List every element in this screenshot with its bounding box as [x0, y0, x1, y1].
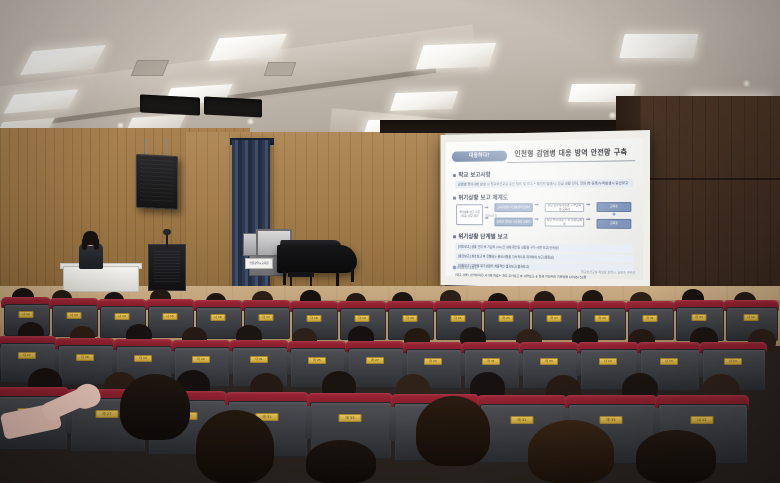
wall-mounted-speaker — [136, 154, 178, 210]
ceiling-av-equipment — [140, 94, 200, 115]
slide-org-name: 인천광역시교육청 — [457, 266, 477, 270]
seat-armrest — [698, 353, 703, 377]
ceiling-panel-light — [619, 34, 698, 58]
audience-head-foreground — [306, 440, 376, 483]
seat-number-tag: 다 21 — [250, 356, 268, 363]
seat-back — [348, 348, 404, 388]
seat[interactable]: 라 27 — [348, 348, 402, 386]
seat-number-tag: 나 15 — [163, 313, 178, 320]
stage-curtain — [232, 140, 270, 300]
audience-head-foreground — [120, 374, 190, 440]
flow-box-r2c2: 담당 부서/과장 → 국·실장/교육감 — [545, 218, 584, 227]
seat-number-tag: 나 13 — [67, 312, 82, 319]
seat-armrest — [170, 351, 175, 374]
audience-head-foreground — [528, 420, 614, 483]
seat-number-tag: 라 27 — [366, 357, 384, 364]
back-wall-wood-right — [640, 96, 780, 314]
seat-number-tag: 라 31 — [482, 358, 500, 365]
seat-armrest — [389, 407, 396, 441]
microphone-stand — [166, 233, 168, 247]
flow-box-r1c2: 담당 장학사/주무관 → 부교육감/교육감 — [545, 203, 584, 212]
flow-arrow-icon: ➡ — [586, 203, 590, 208]
seat-number-tag: 마 33 — [692, 314, 707, 321]
seat-armrest — [286, 352, 291, 375]
seat-number-tag: 다 18 — [76, 354, 94, 361]
audience-head-foreground — [636, 430, 716, 483]
seat-number-tag: 나 12 — [19, 311, 34, 318]
slide-note-1: [최초보고] 상황 인지 후 가급적 24시간 내에 확인된 상황을 구두·서면… — [455, 243, 633, 253]
slide-bullet-3: 위기상황 단계별 보고 — [453, 232, 508, 241]
audience-head-foreground — [196, 410, 274, 483]
seat-number-tag: 마 33 — [540, 358, 558, 365]
seat-number-tag: 라 27 — [547, 315, 562, 322]
slide-note-2: [중간보고] 최초보고 후 진행되는 중요사항을 지속적으로 파악하여 보고(정… — [455, 252, 633, 262]
slide-bullet-1: 학교 보고사항 — [453, 170, 491, 179]
flow-box-r2c1: 교육청 당직실 시교육청 상황실 — [494, 218, 532, 227]
seat-number-tag: 다 20 — [403, 315, 418, 322]
seat-number-tag: 라 31 — [511, 416, 534, 424]
slide-footer-credit: 학교보건교실 최보람 장학사, 김은지 주무관 — [581, 269, 635, 275]
piano-leg — [283, 271, 286, 285]
speaker-grille — [140, 159, 174, 205]
seat-number-tag: 다 19 — [134, 355, 152, 362]
floor-speaker-cabinet — [148, 244, 186, 291]
microphone-head — [163, 229, 171, 235]
seat-armrest — [305, 406, 312, 439]
logo-mark-icon — [453, 266, 457, 270]
grand-piano — [277, 245, 357, 273]
piano-bench-leg — [310, 277, 312, 286]
flow-box-r1c3: 교육청 — [597, 202, 632, 212]
projection-screen: 대응하다! 인천형 감염병 대응 방역 안전망 구축 학교 보고사항 감염병 특… — [440, 130, 650, 290]
auditorium-photo: 대응하다! 인천형 감염병 대응 방역 안전망 구축 학교 보고사항 감염병 특… — [0, 0, 780, 483]
seat-number-tag: 마 33 — [339, 414, 362, 422]
seat-armrest — [0, 347, 1, 370]
seat-number-tag: 나 12 — [599, 358, 617, 365]
seat-number-tag: 라 25 — [499, 315, 514, 322]
podium-sign: 인천광역시교육청 — [245, 258, 273, 269]
slide-title-underline — [507, 160, 635, 163]
slide-org-logo: 인천광역시교육청 — [453, 266, 477, 270]
back-wall-wood-center — [185, 132, 445, 300]
ceiling-vent — [131, 60, 169, 76]
ceiling-vent — [264, 62, 297, 76]
ceiling-av-equipment — [204, 96, 262, 117]
seat-number-tag: 나 13 — [660, 358, 678, 365]
flow-plus-icon: ✚ — [612, 213, 616, 218]
slide-title: 인천형 감염병 대응 방역 안전망 구축 — [507, 147, 635, 159]
audience-head-foreground — [416, 396, 490, 466]
seat-number-tag: 라 27 — [96, 410, 119, 418]
slide-section-pill: 대응하다! — [452, 151, 507, 162]
seat-armrest — [402, 353, 407, 376]
flow-arrow-icon: ➡ — [535, 203, 539, 208]
seat-number-tag: 다 20 — [192, 356, 210, 363]
seat-number-tag: 다 17 — [18, 352, 36, 359]
podium — [63, 266, 139, 292]
piano-leg — [351, 268, 354, 282]
seat-number-tag: 다 19 — [355, 315, 370, 322]
seat-number-tag: 마 33 — [600, 416, 623, 424]
seat-armrest — [54, 349, 59, 372]
seat-number-tag: 라 29 — [595, 315, 610, 322]
seat-number-tag: 라 29 — [424, 358, 442, 365]
seat[interactable]: 다 18 — [58, 345, 112, 383]
seat-number-tag: 다 21 — [451, 315, 466, 322]
wall-seam — [640, 178, 780, 180]
flow-arrow-icon: ➡ — [485, 206, 489, 211]
ceiling-panel-light — [416, 43, 497, 70]
seat-armrest — [112, 350, 117, 373]
ceiling-downlight — [742, 80, 751, 87]
seat-armrest — [228, 351, 233, 374]
slide-bullet-2: 위기상황 보고 체계도 — [453, 193, 508, 202]
speaker-grille — [154, 251, 180, 284]
presenter-hair — [82, 238, 87, 250]
seat-number-tag: 나 16 — [211, 314, 226, 321]
seat-number-tag: 나 12 — [691, 416, 714, 424]
presentation-slide: 대응하다! 인천형 감염병 대응 방역 안전망 구축 학교 보고사항 감염병 특… — [446, 138, 643, 280]
seat-armrest — [576, 353, 581, 376]
ceiling-panel-light — [390, 91, 459, 111]
flow-box-r2c3: 교육청 — [597, 219, 632, 229]
piano-leg — [336, 272, 339, 286]
seat-number-tag: 라 31 — [643, 315, 658, 322]
flow-box-r1c1: 교육지원청 학교통합지원센터 — [494, 203, 532, 212]
seat-number-tag: 라 25 — [308, 357, 326, 364]
flow-arrow-icon: ➡ — [586, 218, 590, 223]
ceiling-downlight — [246, 118, 255, 125]
seat-number-tag: 다 17 — [259, 314, 274, 321]
slide-highlight-band: 감염병 특이사항 발생 시 학교보건교실 유선 협의 및 보고 • 확진자 발생… — [455, 179, 633, 188]
seat-number-tag: 다 18 — [307, 315, 322, 322]
seat-number-tag: 나 12 — [744, 314, 759, 321]
seat-armrest — [518, 353, 523, 376]
seat-number-tag: 나 14 — [115, 313, 130, 320]
seat-armrest — [460, 353, 465, 376]
seat-number-tag: 나 14 — [724, 358, 742, 365]
piano-bench-leg — [290, 277, 292, 286]
flow-arrow-icon: ➡ — [535, 218, 539, 223]
flow-source-box: 위기상황 보고 기관 (학교) 학교 보건 — [456, 204, 483, 225]
